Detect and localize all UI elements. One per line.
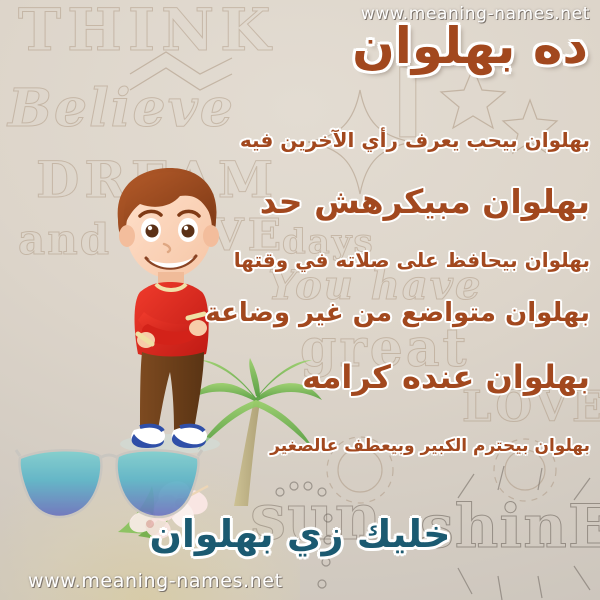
- doodle-believe: Believe: [8, 78, 235, 139]
- trait-line: بهلوان عنده كرامه: [302, 358, 590, 396]
- doodle-think: THINK: [18, 0, 277, 64]
- ribbon-outline-icon: [126, 44, 236, 104]
- trait-line: بهلوان بيحافظ على صلاته في وقتها: [234, 248, 590, 272]
- watermark-top: www.meaning-names.net: [361, 4, 590, 24]
- cartoon-boy-illustration: [100, 168, 230, 453]
- trait-line: بهلوان بيحب يعرف رأي الآخرين فيه: [240, 128, 590, 152]
- doodle-days: days: [282, 222, 375, 262]
- card-footer-slogan: خليك زي بهلوان: [0, 512, 600, 556]
- watermark-bottom: www.meaning-names.net: [28, 570, 283, 592]
- doodle-you-have: You have: [268, 262, 482, 309]
- card-title: ده بهلوان: [352, 20, 588, 73]
- trait-line: بهلوان متواضع من غير وضاعة: [205, 298, 590, 328]
- doodle-and: and: [18, 215, 111, 264]
- seastar-outline-icon: [300, 82, 420, 202]
- trait-line: بهلوان مبيكرهش حد: [260, 182, 590, 221]
- star-outline-icon: [500, 96, 560, 156]
- flower-doodle-icon: [470, 430, 580, 510]
- doodle-love: LOVE: [462, 382, 600, 431]
- name-meaning-card: THINK Believe DREAM and LIVE You have gr…: [0, 0, 600, 600]
